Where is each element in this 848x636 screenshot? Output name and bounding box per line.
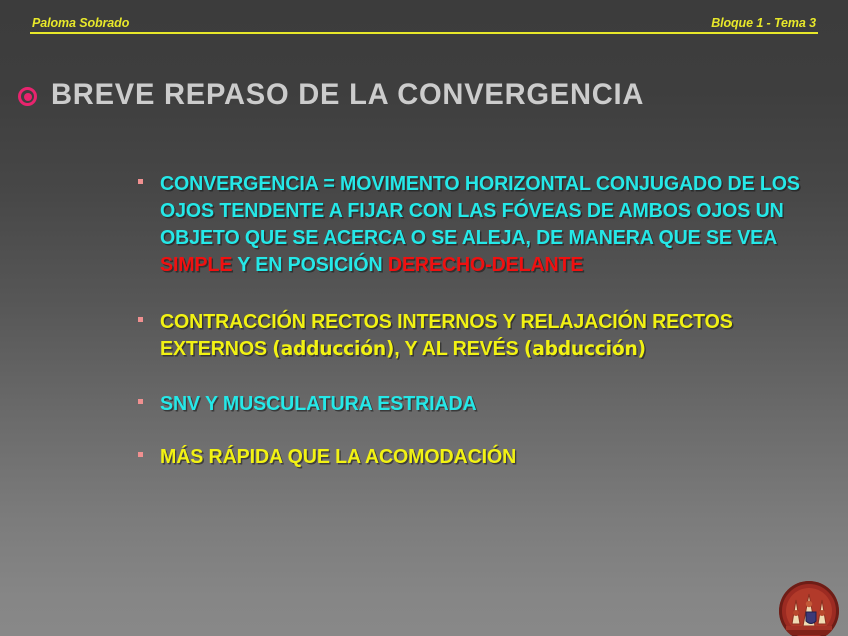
text-run: DERECHO-DELANTE <box>388 253 583 276</box>
square-dot-icon <box>138 317 143 322</box>
text-run: CONVERGENCIA = MOVIMENTO HORIZONTAL CONJ… <box>160 172 800 249</box>
text-run: Y EN POSICIÓN <box>232 253 388 276</box>
slide-body: CONVERGENCIA = MOVIMENTO HORIZONTAL CONJ… <box>136 170 841 470</box>
square-dot-icon <box>138 452 143 457</box>
bullet-item: MÁS RÁPIDA QUE LA ACOMODACIÓN <box>136 443 841 470</box>
text-run: , Y AL REVÉS <box>394 337 524 360</box>
text-run: SIMPLE <box>160 253 232 276</box>
bullet-text: CONTRACCIÓN RECTOS INTERNOS Y RELAJACIÓN… <box>160 308 810 362</box>
bullet-text: MÁS RÁPIDA QUE LA ACOMODACIÓN <box>160 443 810 470</box>
slide-header: Paloma Sobrado Bloque 1 - Tema 3 <box>30 10 818 34</box>
bullet-item: CONVERGENCIA = MOVIMENTO HORIZONTAL CONJ… <box>136 170 841 278</box>
target-dot-icon <box>18 87 37 106</box>
header-section: Bloque 1 - Tema 3 <box>711 16 816 30</box>
page-title: BREVE REPASO DE LA CONVERGENCIA <box>51 78 644 112</box>
text-run: MÁS RÁPIDA QUE LA ACOMODACIÓN <box>160 445 516 468</box>
square-dot-icon <box>138 179 143 184</box>
text-run: SNV Y MUSCULATURA ESTRIADA <box>160 392 477 415</box>
university-seal-emblem <box>778 580 840 636</box>
bullet-text: CONVERGENCIA = MOVIMENTO HORIZONTAL CONJ… <box>160 170 810 278</box>
text-run: (abducción) <box>524 337 646 360</box>
presentation-slide: Paloma Sobrado Bloque 1 - Tema 3 BREVE R… <box>0 0 848 636</box>
header-author: Paloma Sobrado <box>32 16 129 30</box>
bullet-item: SNV Y MUSCULATURA ESTRIADA <box>136 390 841 417</box>
slide-title-row: BREVE REPASO DE LA CONVERGENCIA <box>18 78 663 112</box>
text-run: (adducción) <box>272 337 394 360</box>
square-dot-icon <box>138 399 143 404</box>
bullet-text: SNV Y MUSCULATURA ESTRIADA <box>160 390 810 417</box>
bullet-item: CONTRACCIÓN RECTOS INTERNOS Y RELAJACIÓN… <box>136 308 841 362</box>
